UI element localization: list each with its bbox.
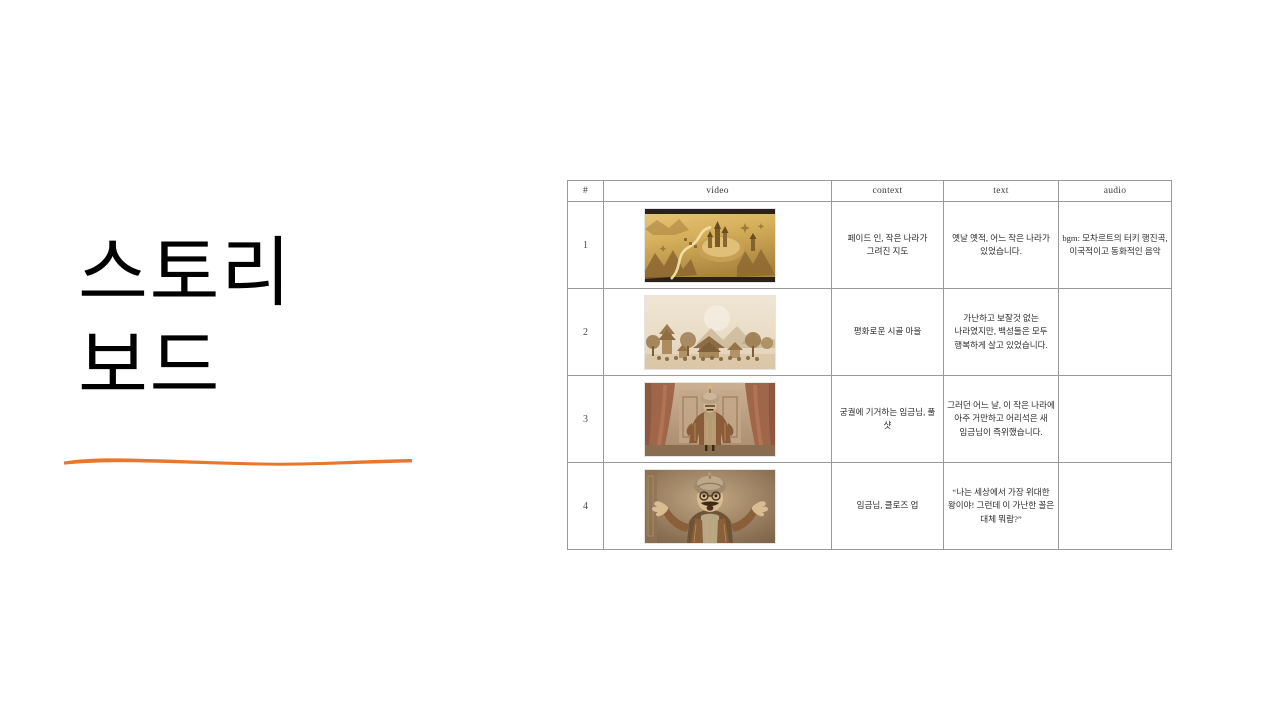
audio-cell	[1059, 376, 1172, 463]
thumbnail-fantasy-map	[645, 209, 775, 282]
column-header-context: context	[832, 181, 944, 202]
presentation-slide: 스토리 보드 # video context text audio	[0, 0, 1280, 720]
orange-brush-underline-icon	[63, 452, 413, 470]
row-number: 1	[568, 202, 604, 289]
table-row: 4	[568, 463, 1172, 550]
column-header-text: text	[944, 181, 1059, 202]
storyboard-table-container: # video context text audio 1	[567, 180, 1171, 550]
column-header-audio: audio	[1059, 181, 1172, 202]
audio-cell	[1059, 289, 1172, 376]
narration-text-cell: 가난하고 보잘것 없는 나라였지만, 백성들은 모두 행복하게 살고 있었습니다…	[944, 289, 1059, 376]
storyboard-table: # video context text audio 1	[567, 180, 1172, 550]
narration-text-cell: “나는 세상에서 가장 위대한 왕이야! 그런데 이 가난한 꼴은 대체 뭐람?…	[944, 463, 1059, 550]
narration-text-cell: 옛날 옛적, 어느 작은 나라가 있었습니다.	[944, 202, 1059, 289]
column-header-number: #	[568, 181, 604, 202]
table-header-row: # video context text audio	[568, 181, 1172, 202]
context-cell: 궁궐에 기거하는 임금님, 풀 샷	[832, 376, 944, 463]
context-cell: 임금님, 클로즈 업	[832, 463, 944, 550]
audio-cell: bgm: 모차르트의 터키 행진곡, 이국적이고 동화적인 음악	[1059, 202, 1172, 289]
thumbnail-village-sketch	[645, 296, 775, 369]
video-thumbnail-cell	[604, 463, 832, 550]
page-title: 스토리 보드	[78, 228, 438, 413]
table-row: 3	[568, 376, 1172, 463]
column-header-video: video	[604, 181, 832, 202]
table-row: 1	[568, 202, 1172, 289]
row-number: 2	[568, 289, 604, 376]
thumbnail-king-full-shot	[645, 383, 775, 456]
title-block: 스토리 보드	[78, 228, 438, 413]
video-thumbnail-cell	[604, 376, 832, 463]
row-number: 3	[568, 376, 604, 463]
context-cell: 페이드 인, 작은 나라가 그려진 지도	[832, 202, 944, 289]
narration-text-cell: 그러던 어느 날, 이 작은 나라에 아주 거만하고 어리석은 새 임금님이 즉…	[944, 376, 1059, 463]
video-thumbnail-cell	[604, 202, 832, 289]
audio-cell	[1059, 463, 1172, 550]
row-number: 4	[568, 463, 604, 550]
table-row: 2	[568, 289, 1172, 376]
video-thumbnail-cell	[604, 289, 832, 376]
thumbnail-king-close-up	[645, 470, 775, 543]
context-cell: 평화로운 시골 마을	[832, 289, 944, 376]
